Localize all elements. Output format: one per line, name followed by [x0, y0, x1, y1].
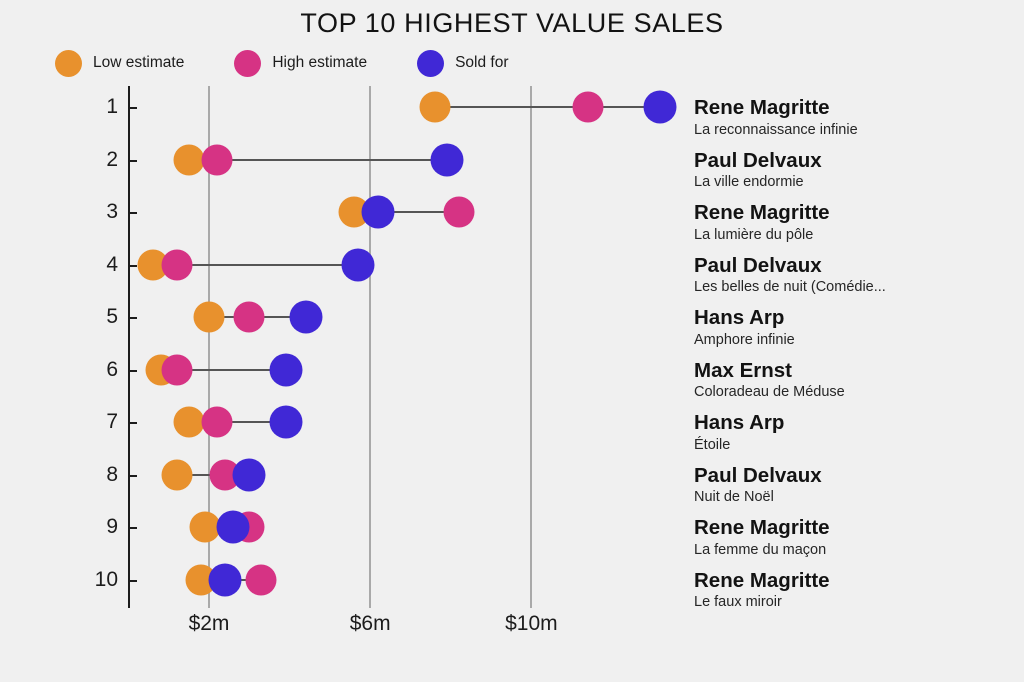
x-tick-label-$6m: $6m	[350, 612, 391, 636]
artwork-title: La femme du maçon	[694, 542, 1024, 559]
y-tick-mark	[128, 475, 137, 477]
y-tick-label-4: 4	[68, 253, 118, 277]
artist-name: Paul Delvaux	[694, 254, 1024, 277]
x-tick-label-$2m: $2m	[189, 612, 230, 636]
data-point-low[interactable]	[194, 302, 225, 333]
y-axis-line	[128, 86, 130, 608]
x-tick-label-$10m: $10m	[505, 612, 558, 636]
row-label: Hans ArpAmphore infinie	[694, 307, 1024, 349]
y-tick-mark	[128, 160, 137, 162]
y-tick-label-2: 2	[68, 148, 118, 172]
data-point-low[interactable]	[173, 407, 204, 438]
artwork-title: Étoile	[694, 437, 1024, 454]
y-tick-mark	[128, 212, 137, 214]
y-tick-label-9: 9	[68, 515, 118, 539]
row-label: Paul DelvauxLes belles de nuit (Comédie.…	[694, 254, 1024, 296]
artist-name: Max Ernst	[694, 359, 1024, 382]
data-point-sold[interactable]	[644, 91, 677, 124]
data-point-high[interactable]	[246, 564, 277, 595]
row-label: Rene MagritteLa lumière du pôle	[694, 202, 1024, 244]
data-point-low[interactable]	[419, 92, 450, 123]
artist-name: Paul Delvaux	[694, 149, 1024, 172]
artist-name: Paul Delvaux	[694, 464, 1024, 487]
data-point-high[interactable]	[443, 197, 474, 228]
artwork-title: La ville endormie	[694, 174, 1024, 191]
y-tick-mark	[128, 265, 137, 267]
data-point-sold[interactable]	[217, 511, 250, 544]
data-point-sold[interactable]	[342, 248, 375, 281]
chart-container: TOP 10 HIGHEST VALUE SALES Low estimateH…	[0, 0, 1024, 682]
y-tick-label-5: 5	[68, 305, 118, 329]
y-tick-mark	[128, 370, 137, 372]
y-tick-mark	[128, 107, 137, 109]
gridline-$10m	[530, 86, 532, 608]
row-connector	[435, 106, 661, 108]
y-tick-label-10: 10	[68, 568, 118, 592]
artwork-title: La reconnaissance infinie	[694, 122, 1024, 139]
y-tick-label-6: 6	[68, 358, 118, 382]
artist-name: Rene Magritte	[694, 97, 1024, 120]
data-point-high[interactable]	[161, 354, 192, 385]
row-label: Rene MagritteLa femme du maçon	[694, 517, 1024, 559]
data-point-sold[interactable]	[269, 353, 302, 386]
artwork-title: La lumière du pôle	[694, 227, 1024, 244]
data-point-sold[interactable]	[269, 406, 302, 439]
artist-name: Rene Magritte	[694, 517, 1024, 540]
y-tick-mark	[128, 580, 137, 582]
row-label: Rene MagritteLe faux miroir	[694, 569, 1024, 611]
row-label: Max ErnstColoradeau de Méduse	[694, 359, 1024, 401]
artwork-title: Amphore infinie	[694, 332, 1024, 349]
data-point-low[interactable]	[161, 459, 192, 490]
data-point-high[interactable]	[202, 144, 233, 175]
y-tick-label-7: 7	[68, 410, 118, 434]
data-point-high[interactable]	[202, 407, 233, 438]
data-point-high[interactable]	[161, 249, 192, 280]
y-tick-label-1: 1	[68, 95, 118, 119]
data-point-sold[interactable]	[430, 143, 463, 176]
artist-name: Rene Magritte	[694, 202, 1024, 225]
row-label: Hans ArpÉtoile	[694, 412, 1024, 454]
data-point-sold[interactable]	[233, 458, 266, 491]
data-point-sold[interactable]	[209, 563, 242, 596]
plot-area: 12345678910$2m$6m$10mRene MagritteLa rec…	[0, 0, 1024, 682]
y-tick-label-8: 8	[68, 463, 118, 487]
artwork-title: Nuit de Noël	[694, 489, 1024, 506]
artist-name: Hans Arp	[694, 307, 1024, 330]
artist-name: Rene Magritte	[694, 569, 1024, 592]
row-label: Paul DelvauxLa ville endormie	[694, 149, 1024, 191]
row-label: Rene MagritteLa reconnaissance infinie	[694, 97, 1024, 139]
y-tick-mark	[128, 422, 137, 424]
row-label: Paul DelvauxNuit de Noël	[694, 464, 1024, 506]
data-point-high[interactable]	[572, 92, 603, 123]
data-point-low[interactable]	[173, 144, 204, 175]
gridline-$6m	[369, 86, 371, 608]
y-tick-mark	[128, 527, 137, 529]
data-point-sold[interactable]	[362, 196, 395, 229]
data-point-high[interactable]	[234, 302, 265, 333]
artist-name: Hans Arp	[694, 412, 1024, 435]
data-point-sold[interactable]	[289, 301, 322, 334]
artwork-title: Coloradeau de Méduse	[694, 384, 1024, 401]
y-tick-label-3: 3	[68, 200, 118, 224]
y-tick-mark	[128, 317, 137, 319]
artwork-title: Le faux miroir	[694, 594, 1024, 611]
artwork-title: Les belles de nuit (Comédie...	[694, 279, 1024, 296]
